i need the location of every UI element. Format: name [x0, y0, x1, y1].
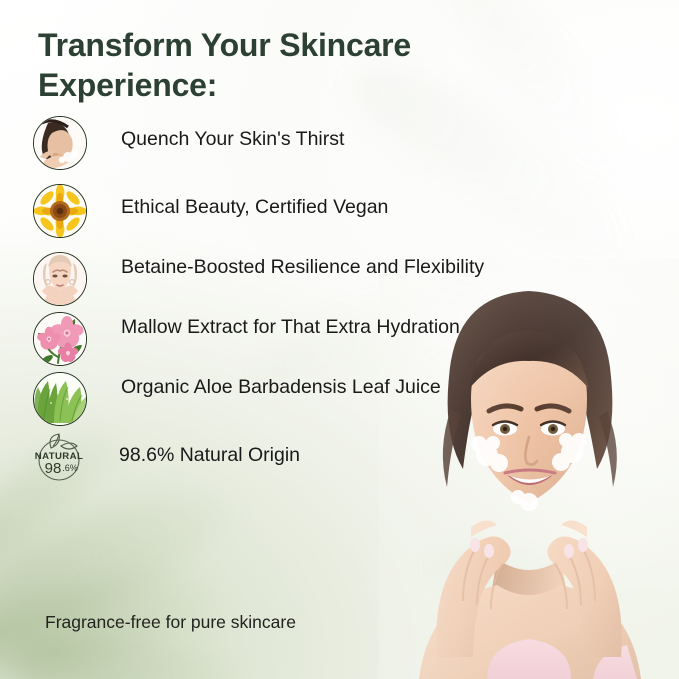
face-splash-water-icon — [33, 116, 87, 170]
aloe-vera-leaf-icon — [33, 372, 87, 426]
mallow-flower-icon — [33, 312, 87, 366]
list-item-label: Quench Your Skin's Thirst — [121, 116, 344, 152]
list-item-label: Ethical Beauty, Certified Vegan — [121, 184, 388, 220]
badge-value: 98 — [45, 460, 62, 477]
list-item-label: Mallow Extract for That Extra Hydration — [121, 312, 460, 340]
list-item-label: 98.6% Natural Origin — [119, 432, 300, 468]
list-item: Betaine-Boosted Resilience and Flexibili… — [33, 252, 503, 306]
woman-face-portrait-icon — [33, 252, 87, 306]
natural-percentage-badge-icon: NATURAL 98 .6% — [33, 432, 85, 484]
list-item: Ethical Beauty, Certified Vegan — [33, 184, 503, 238]
fragrance-free-note: Fragrance-free for pure skincare — [45, 612, 296, 633]
list-item: Mallow Extract for That Extra Hydration — [33, 312, 503, 366]
sunflower-icon — [33, 184, 87, 238]
badge-decimal: .6% — [62, 463, 78, 473]
list-item: NATURAL 98 .6% 98.6% Natural Origin — [33, 432, 503, 484]
feature-list: Quench Your Skin's Thirst — [33, 116, 503, 484]
list-item-label: Organic Aloe Barbadensis Leaf Juice — [121, 372, 441, 400]
list-item: Quench Your Skin's Thirst — [33, 116, 503, 170]
page-title: Transform Your Skincare Experience: — [38, 26, 508, 105]
list-item-label: Betaine-Boosted Resilience and Flexibili… — [121, 252, 484, 280]
list-item: Organic Aloe Barbadensis Leaf Juice — [33, 372, 503, 426]
skincare-feature-infographic: Transform Your Skincare Experience: — [0, 0, 679, 679]
